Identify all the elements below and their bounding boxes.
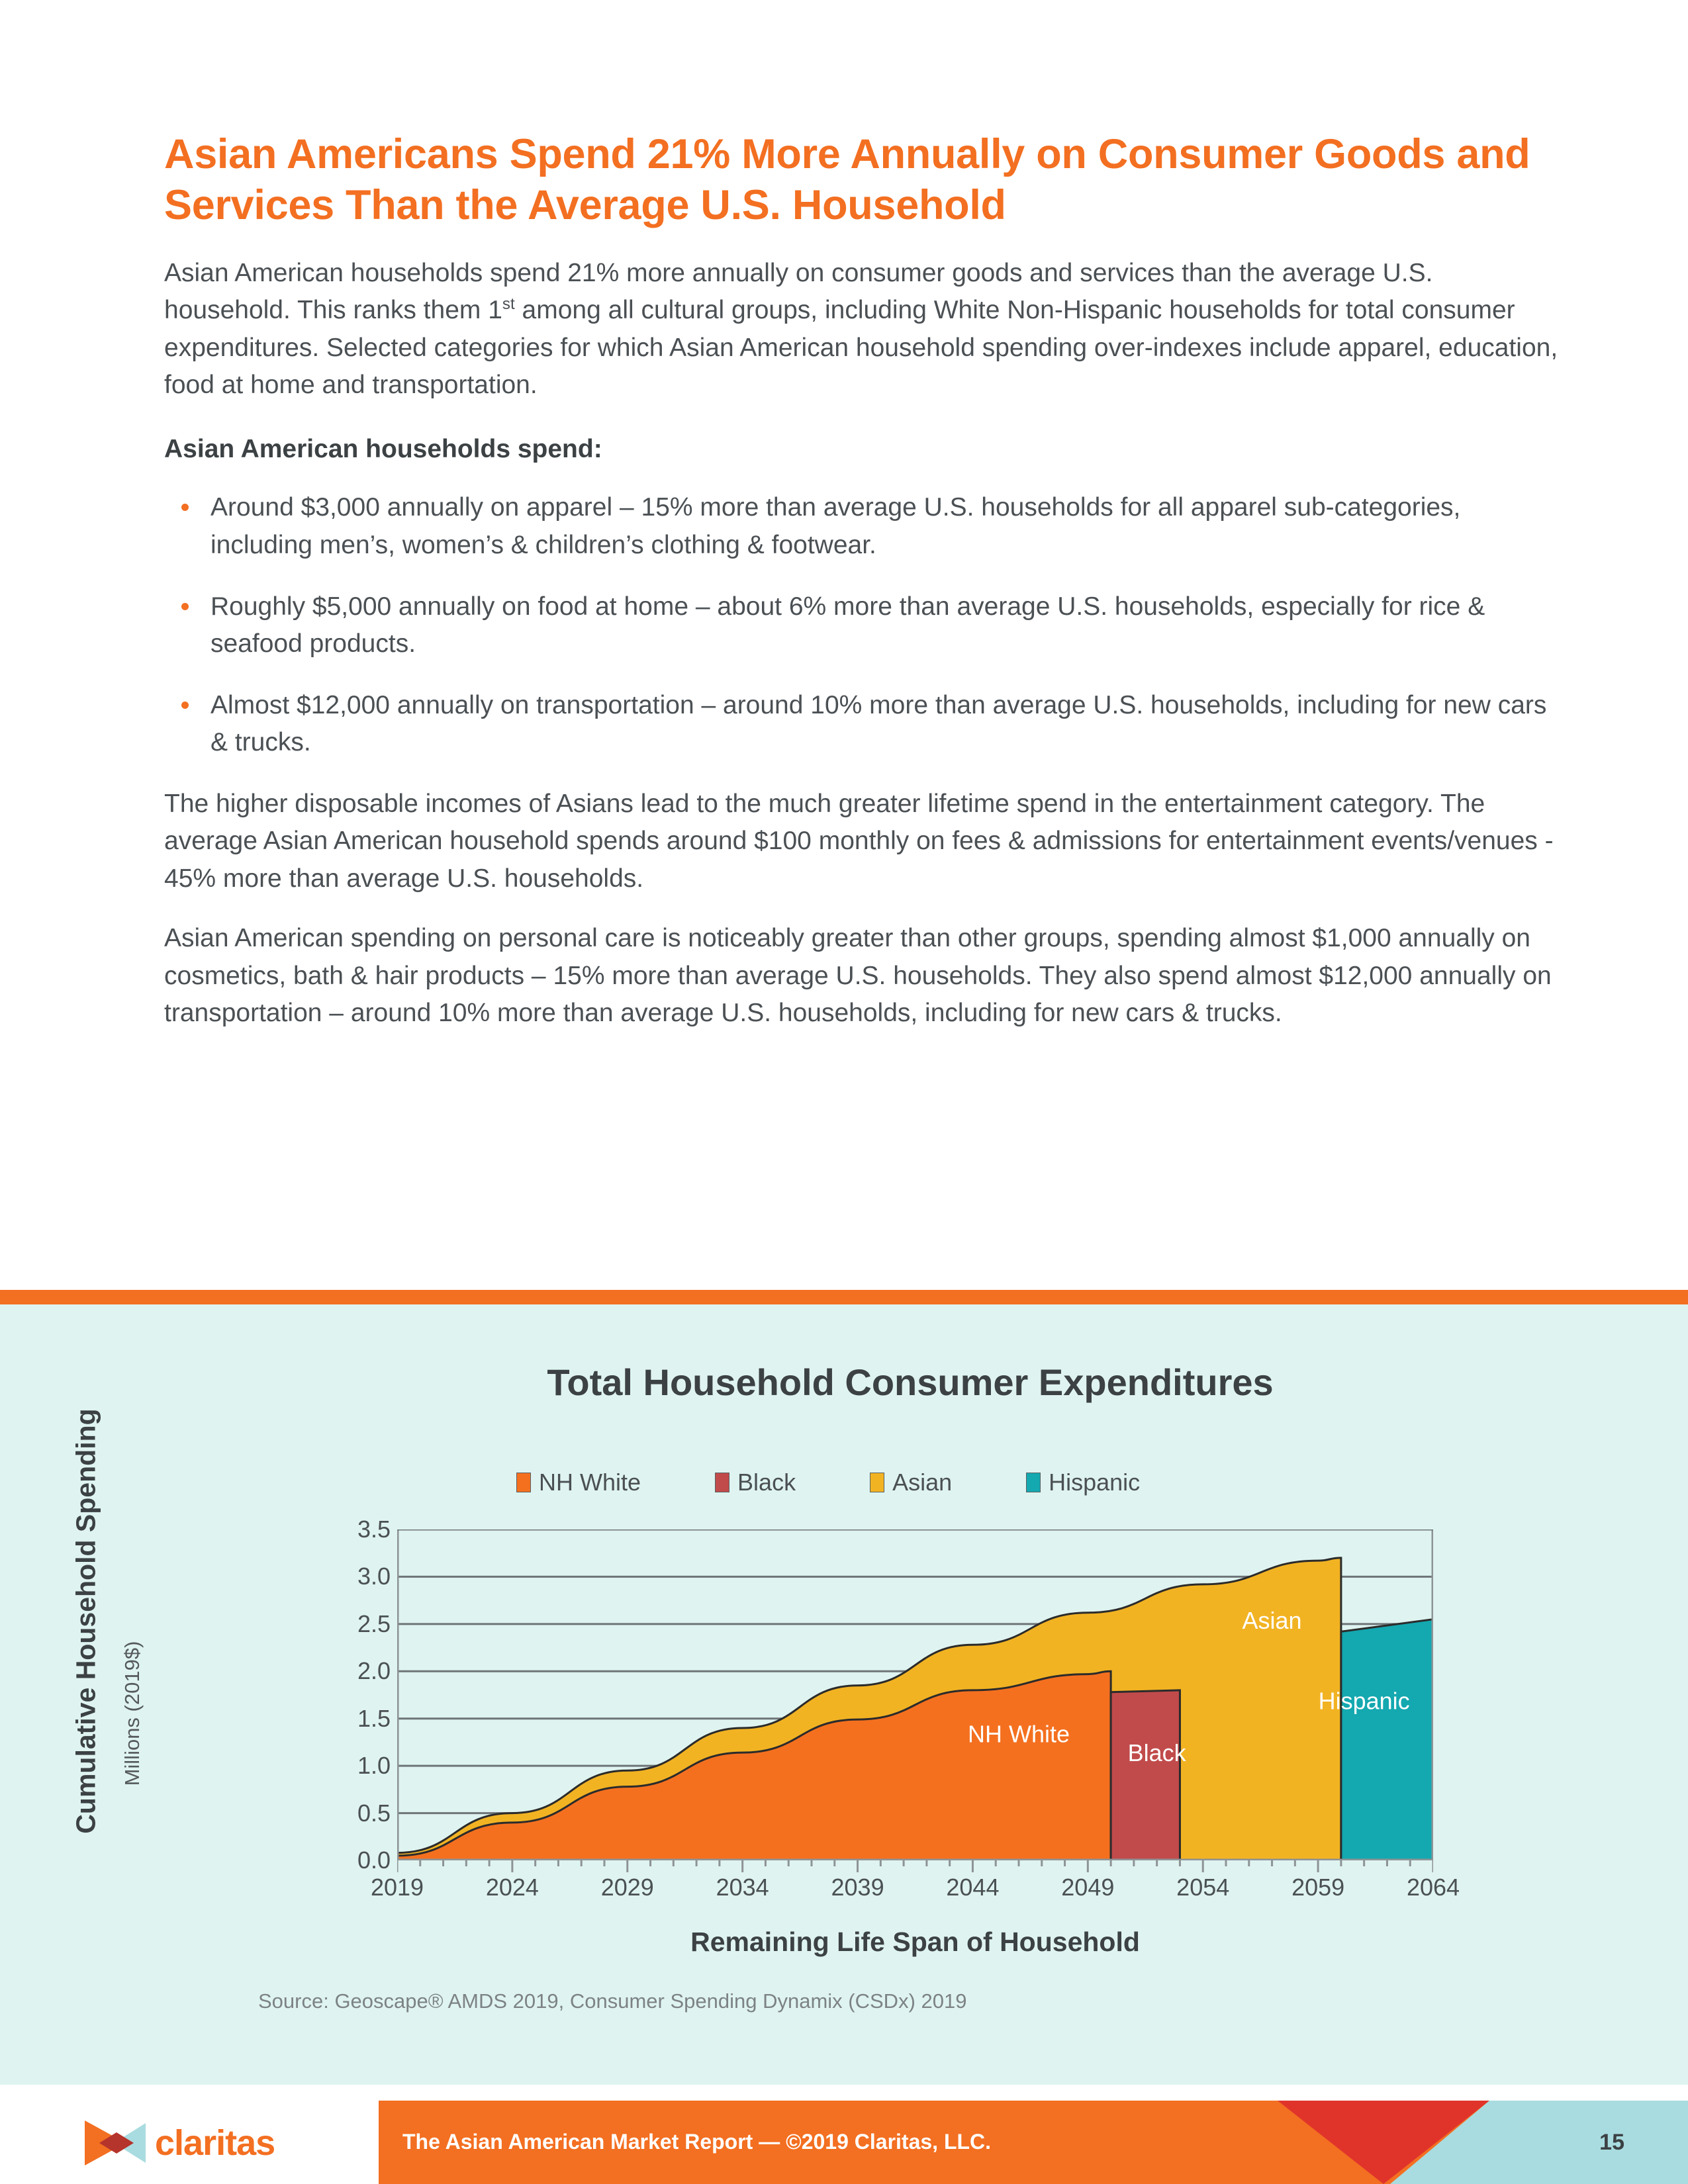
x-tick-label: 2029 [601,1874,654,1901]
chart-annotation: Asian [1243,1607,1302,1634]
footer-blue-block [1489,2101,1688,2184]
chart-panel: Total Household Consumer Expenditures Cu… [0,1304,1688,2085]
entertainment-paragraph: The higher disposable incomes of Asians … [164,786,1561,898]
legend-swatch-icon [1026,1473,1041,1492]
y-axis-tick-labels: 0.00.51.01.52.02.53.03.5 [318,1529,391,1860]
personal-care-paragraph: Asian American spending on personal care… [164,920,1561,1032]
legend-label: Black [737,1469,796,1496]
x-axis-minor-ticks [397,1859,1433,1874]
chart-source-note: Source: Geoscape® AMDS 2019, Consumer Sp… [258,1989,966,2013]
report-page: Asian Americans Spend 21% More Annually … [0,0,1688,2184]
spend-subheading: Asian American households spend: [164,431,1561,469]
claritas-wordmark: claritas [155,2122,275,2163]
x-tick-label: 2049 [1061,1874,1114,1901]
y-tick-label: 0.0 [357,1846,391,1874]
spend-bullet-list: Around $3,000 annually on apparel – 15% … [164,489,1561,761]
page-footer: claritas The Asian American Market Repor… [0,2097,1688,2184]
footer-bar: The Asian American Market Report — ©2019… [379,2101,1688,2184]
section-divider [0,1290,1688,1304]
list-item: Roughly $5,000 annually on food at home … [172,588,1561,663]
legend-label: Asian [892,1469,952,1496]
legend-swatch-icon [870,1473,884,1492]
x-tick-label: 2024 [486,1874,539,1901]
footer-report-label: The Asian American Market Report — ©2019… [402,2130,991,2154]
y-axis-subtitle: Millions (2019$) [120,1508,144,1919]
x-tick-label: 2034 [716,1874,769,1901]
y-tick-label: 2.5 [357,1610,391,1638]
x-axis-tick-labels: 2019202420292034203920442049205420592064 [397,1874,1433,1913]
y-tick-label: 0.5 [357,1799,391,1827]
chart-annotation: Black [1128,1739,1187,1766]
page-title: Asian Americans Spend 21% More Annually … [164,129,1561,231]
x-axis-title: Remaining Life Span of Household [397,1927,1433,1958]
list-item: Almost $12,000 annually on transportatio… [172,687,1561,762]
claritas-logo[interactable]: claritas [85,2118,343,2168]
y-tick-label: 1.5 [357,1705,391,1733]
page-number: 15 [1599,2130,1624,2156]
y-tick-label: 2.0 [357,1657,391,1685]
legend-item-nh-white[interactable]: NH White [516,1469,641,1496]
x-tick-label: 2044 [946,1874,999,1901]
legend-label: Hispanic [1049,1469,1140,1496]
legend-item-black[interactable]: Black [715,1469,796,1496]
chart-annotation: NH White [968,1720,1070,1747]
chart-legend: NH White Black Asian Hispanic [516,1469,1140,1496]
x-tick-label: 2064 [1407,1874,1460,1901]
plot-area: 0.00.51.01.52.02.53.03.5 AsianHispanicNH… [397,1529,1433,1860]
y-tick-label: 1.0 [357,1752,391,1780]
legend-item-asian[interactable]: Asian [870,1469,952,1496]
list-item: Around $3,000 annually on apparel – 15% … [172,489,1561,564]
ordinal-suffix: st [502,295,515,313]
x-tick-label: 2059 [1291,1874,1344,1901]
x-tick-label: 2054 [1176,1874,1229,1901]
legend-swatch-icon [516,1473,531,1492]
x-tick-label: 2019 [371,1874,424,1901]
x-tick-label: 2039 [831,1874,884,1901]
y-tick-label: 3.5 [357,1516,391,1543]
claritas-bowtie-icon [85,2119,146,2167]
chart-title: Total Household Consumer Expenditures [0,1361,1688,1404]
legend-label: NH White [539,1469,641,1496]
legend-swatch-icon [715,1473,729,1492]
article-content: Asian Americans Spend 21% More Annually … [164,129,1561,1055]
y-axis-title: Cumulative Household Spending [71,1370,102,1873]
intro-paragraph: Asian American households spend 21% more… [164,255,1561,404]
footer-blue-triangle [1390,2101,1489,2184]
legend-item-hispanic[interactable]: Hispanic [1026,1469,1140,1496]
chart-annotation: Hispanic [1319,1687,1410,1714]
area-chart-svg: AsianHispanicNH WhiteBlack [397,1529,1433,1860]
y-tick-label: 3.0 [357,1563,391,1590]
